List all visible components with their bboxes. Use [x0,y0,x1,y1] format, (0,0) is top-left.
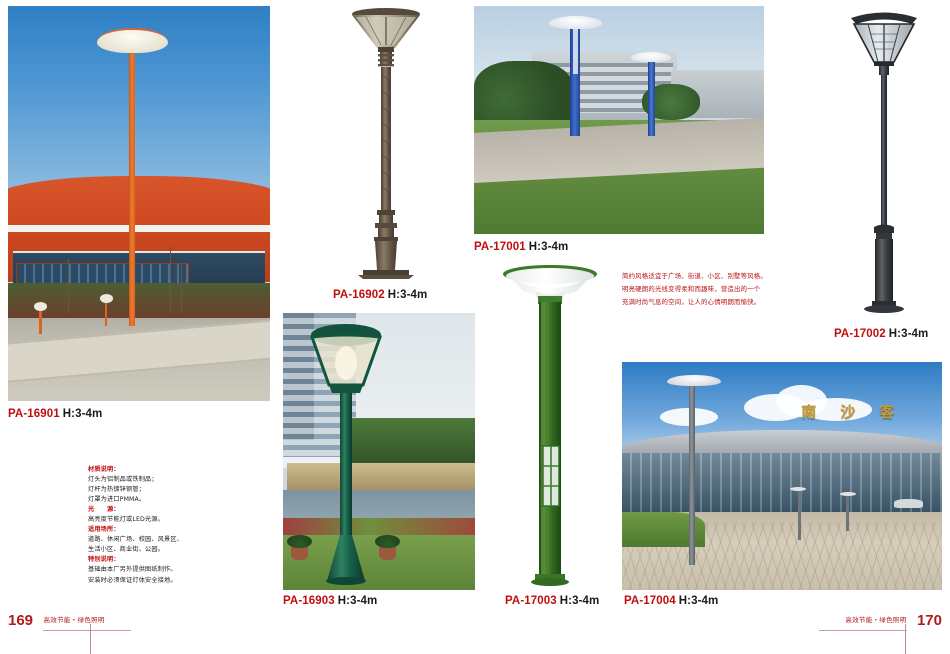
lamp-illustration-pa-17002 [824,4,944,316]
product-code: PA-17001 [474,241,526,253]
lamp-light-tube [573,29,578,75]
product-photo-pa-17004: 南 沙 客 [622,362,942,590]
product-caption-pa-16902: PA-16902H:3-4m [333,289,427,301]
footer-slogan: 高效节能・绿色照明 [845,614,906,624]
footer-left: 169 高效节能・绿色照明 [0,610,160,654]
specification-block: 材质说明： 灯头为铝制品或铁制品； 灯杆为热镀锌钢管； 灯罩为进口PMMA。 光… [88,465,218,586]
product-size: H:3-4m [560,595,600,607]
product-caption-pa-17001: PA-17001H:3-4m [474,241,568,253]
product-photo-pa-16901 [8,6,270,401]
lamp-illustration-pa-16902 [325,4,447,280]
footer-rule [43,630,131,631]
spec-light-line: 高亮度节能灯或LED光源。 [88,515,218,525]
product-size: H:3-4m [529,241,569,253]
building-sign: 南 沙 客 [801,401,929,431]
promo-line: 充满时尚气息的空间，让人的心情明朗而愉快。 [622,296,817,309]
product-render-pa-17002 [824,4,944,316]
lamp-head [549,16,601,29]
promo-line: 明亮硬朗的光线变得柔和而趣味，营造出的一个 [622,283,817,296]
product-render-pa-16902 [325,4,447,280]
footer-rule [819,630,907,631]
spec-special-line: 安装时必须保证灯体安全接地。 [88,576,218,586]
product-photo-pa-16903 [283,313,475,590]
page-number-left: 169 [8,612,33,629]
product-caption-pa-17003: PA-17003H:3-4m [505,595,599,607]
product-caption-pa-17002: PA-17002H:3-4m [834,328,928,340]
product-code: PA-17003 [505,595,557,607]
product-code: PA-16903 [283,595,335,607]
promo-line: 简约风格适宜于广场、街道、小区、别墅等风格。 [622,270,817,283]
lamp-illustration-pa-16903 [283,313,475,590]
secondary-lamp-pole [798,490,801,540]
spec-material-line: 灯头为铝制品或铁制品； [88,475,218,485]
spec-place-line: 道路、休闲广场、校园、风景区、 [88,535,218,545]
footer-divider [905,624,906,654]
product-code: PA-17004 [624,595,676,607]
lamp-pole [129,42,136,326]
spec-special-line: 基础由本厂另外提供图纸制作。 [88,565,218,575]
page-number-right: 170 [917,612,942,629]
spec-place-line: 生活小区、商业街、公园。 [88,545,218,555]
bare-tree [170,247,171,314]
footer-divider [90,624,91,654]
spec-material-line: 灯杆为热镀锌钢管； [88,485,218,495]
spec-material-line: 灯罩为进口PMMA。 [88,495,218,505]
secondary-lamp-head [840,492,856,496]
promotional-paragraph: 简约风格适宜于广场、街道、小区、别墅等风格。 明亮硬朗的光线变得柔和而趣味，营造… [622,270,817,309]
product-code: PA-17002 [834,328,886,340]
product-photo-pa-17001 [474,6,764,234]
spec-material-heading: 材质说明： [88,465,218,475]
product-render-pa-17003 [495,258,605,590]
product-caption-pa-16903: PA-16903H:3-4m [283,595,377,607]
spec-place-heading: 适用场所： [88,525,218,535]
product-code: PA-16902 [333,289,385,301]
lamp-illustration-pa-17003 [495,258,605,590]
product-caption-pa-17004: PA-17004H:3-4m [624,595,718,607]
secondary-lamp-head [100,294,113,303]
product-size: H:3-4m [679,595,719,607]
lamp-pole [689,383,695,565]
product-size: H:3-4m [889,328,929,340]
product-caption-pa-16901: PA-16901H:3-4m [8,408,102,420]
footer-slogan: 高效节能・绿色照明 [43,614,104,624]
secondary-lamp-pole [846,494,849,530]
tree-cluster [474,61,573,125]
lamp-head [97,28,168,54]
secondary-lamp-head [631,52,672,62]
footer-right: 高效节能・绿色照明 170 [790,610,950,654]
product-size: H:3-4m [338,595,378,607]
product-code: PA-16901 [8,408,60,420]
lamp-head [667,375,721,386]
secondary-lamp-pole [648,61,655,136]
catalog-spread: PA-16901H:3-4m 材质说明： 灯头为铝制品或铁制品； 灯杆为热镀锌钢… [0,0,950,654]
hedge-row [8,283,270,319]
bare-tree [181,263,182,314]
spec-special-heading: 特别说明： [88,555,218,565]
spec-light-heading: 光 源： [88,505,218,515]
glass-curtain-wall [622,453,942,517]
product-size: H:3-4m [63,408,103,420]
parked-car [894,499,923,508]
bare-tree [68,259,69,314]
product-size: H:3-4m [388,289,428,301]
